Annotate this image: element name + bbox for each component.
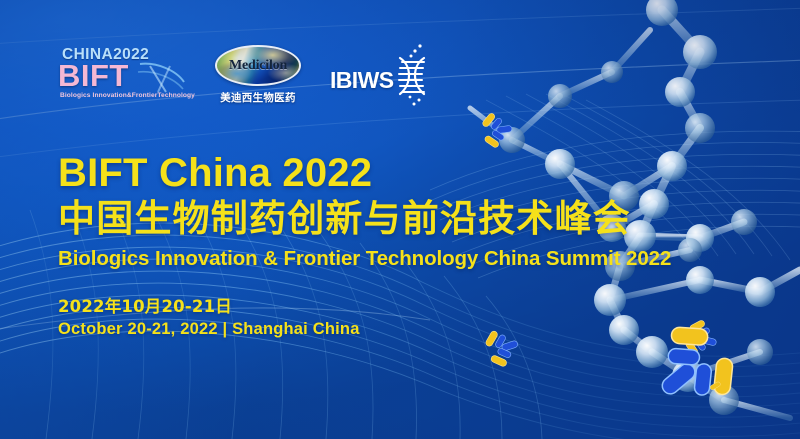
title-english-subtitle: Biologics Innovation & Frontier Technolo…: [58, 247, 758, 271]
conference-banner: CHINA2022 BIFT Biologics Innovation&Fron…: [0, 0, 800, 439]
title-english-main: BIFT China 2022: [58, 152, 758, 194]
bift-logo-tagline: Biologics Innovation&FrontierTechnology: [60, 92, 195, 99]
ibiws-wordmark: IBIWS: [330, 67, 393, 94]
headline-block: BIFT China 2022 中国生物制药创新与前沿技术峰会 Biologic…: [58, 152, 758, 270]
event-date-block: 2022年10月20-21日 October 20-21, 2022 | Sha…: [58, 296, 360, 341]
bift-logo[interactable]: CHINA2022 BIFT Biologics Innovation&Fron…: [58, 46, 186, 104]
medicilon-logo[interactable]: Medicilon 美迪西生物医药: [212, 45, 304, 105]
medicilon-oval-mark: Medicilon: [215, 45, 301, 86]
event-date-english: October 20-21, 2022 | Shanghai China: [58, 318, 360, 340]
sponsor-logo-strip: CHINA2022 BIFT Biologics Innovation&Fron…: [58, 44, 430, 106]
event-date-chinese: 2022年10月20-21日: [58, 296, 360, 318]
medicilon-wordmark: Medicilon: [217, 58, 299, 74]
dna-helix-icon: [390, 42, 430, 108]
medicilon-chinese-name: 美迪西生物医药: [220, 90, 296, 105]
ibiws-logo[interactable]: IBIWS: [330, 44, 430, 106]
title-chinese-main: 中国生物制药创新与前沿技术峰会: [58, 198, 758, 239]
bift-logo-wordmark: BIFT: [58, 60, 129, 91]
